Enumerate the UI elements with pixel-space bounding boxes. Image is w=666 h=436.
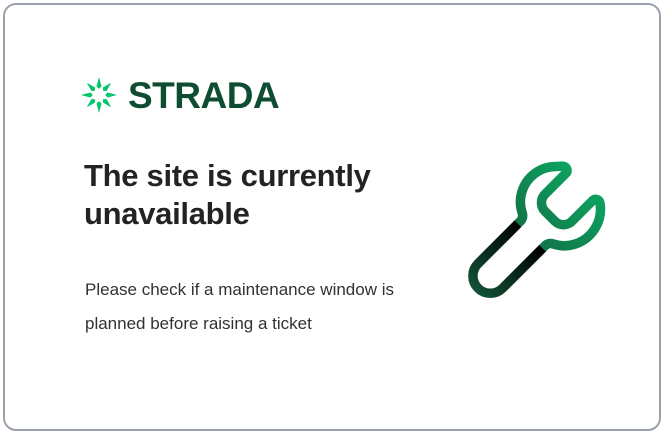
page-title: The site is currently unavailable [84, 157, 414, 233]
illustration-container [460, 157, 618, 315]
brand-wordmark: STRADA [128, 77, 279, 114]
wrench-icon [460, 157, 618, 315]
page-description: Please check if a maintenance window is … [85, 273, 395, 341]
asterisk-starburst-icon [81, 77, 117, 113]
brand-logo: STRADA [81, 73, 279, 117]
status-page-card: STRADA The site is currently unavailable… [3, 3, 661, 431]
